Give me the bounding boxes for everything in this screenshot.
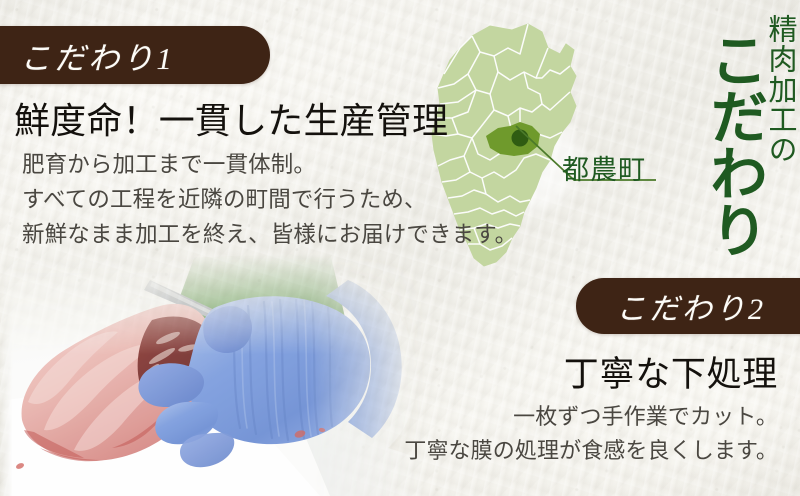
vertical-title: こだわり 精肉加工の <box>704 6 794 257</box>
section2-body-line-2: 丁寧な膜の処理が食感を良くします。 <box>404 434 778 468</box>
photo-illustration <box>0 252 430 496</box>
badge-kodawari-2-label: こだわり2 <box>616 284 766 328</box>
infographic-canvas: 都農町 こだわり 精肉加工の こだわり1 鮮度命！一貫した生産管理 肥育から加工… <box>0 0 800 496</box>
badge-kodawari-1-label: こだわり1 <box>20 33 175 78</box>
meat-cutting-photo <box>0 252 430 496</box>
section1-body-line-2: すべての工程を近隣の町間で行うため、 <box>22 183 517 218</box>
section2-body: 一枚ずつ手作業でカット。 丁寧な膜の処理が食感を良くします。 <box>404 400 778 469</box>
section1-body-line-1: 肥育から加工まで一貫体制。 <box>22 148 517 183</box>
badge-kodawari-2: こだわり2 <box>576 278 800 334</box>
vertical-title-sub: 精肉加工の <box>765 14 794 165</box>
vertical-title-main: こだわり <box>704 30 763 257</box>
section1-headline: 鮮度命！一貫した生産管理 <box>14 92 448 144</box>
section1-body-line-3: 新鮮なまま加工を終え、皆様にお届けできます。 <box>22 218 517 253</box>
section1-body: 肥育から加工まで一貫体制。 すべての工程を近隣の町間で行うため、 新鮮なまま加工… <box>22 148 517 253</box>
section2-body-line-1: 一枚ずつ手作業でカット。 <box>404 400 778 434</box>
badge-kodawari-1: こだわり1 <box>0 26 270 84</box>
tsuno-label: 都農町 <box>562 148 646 187</box>
section2-headline: 丁寧な下処理 <box>564 346 778 397</box>
